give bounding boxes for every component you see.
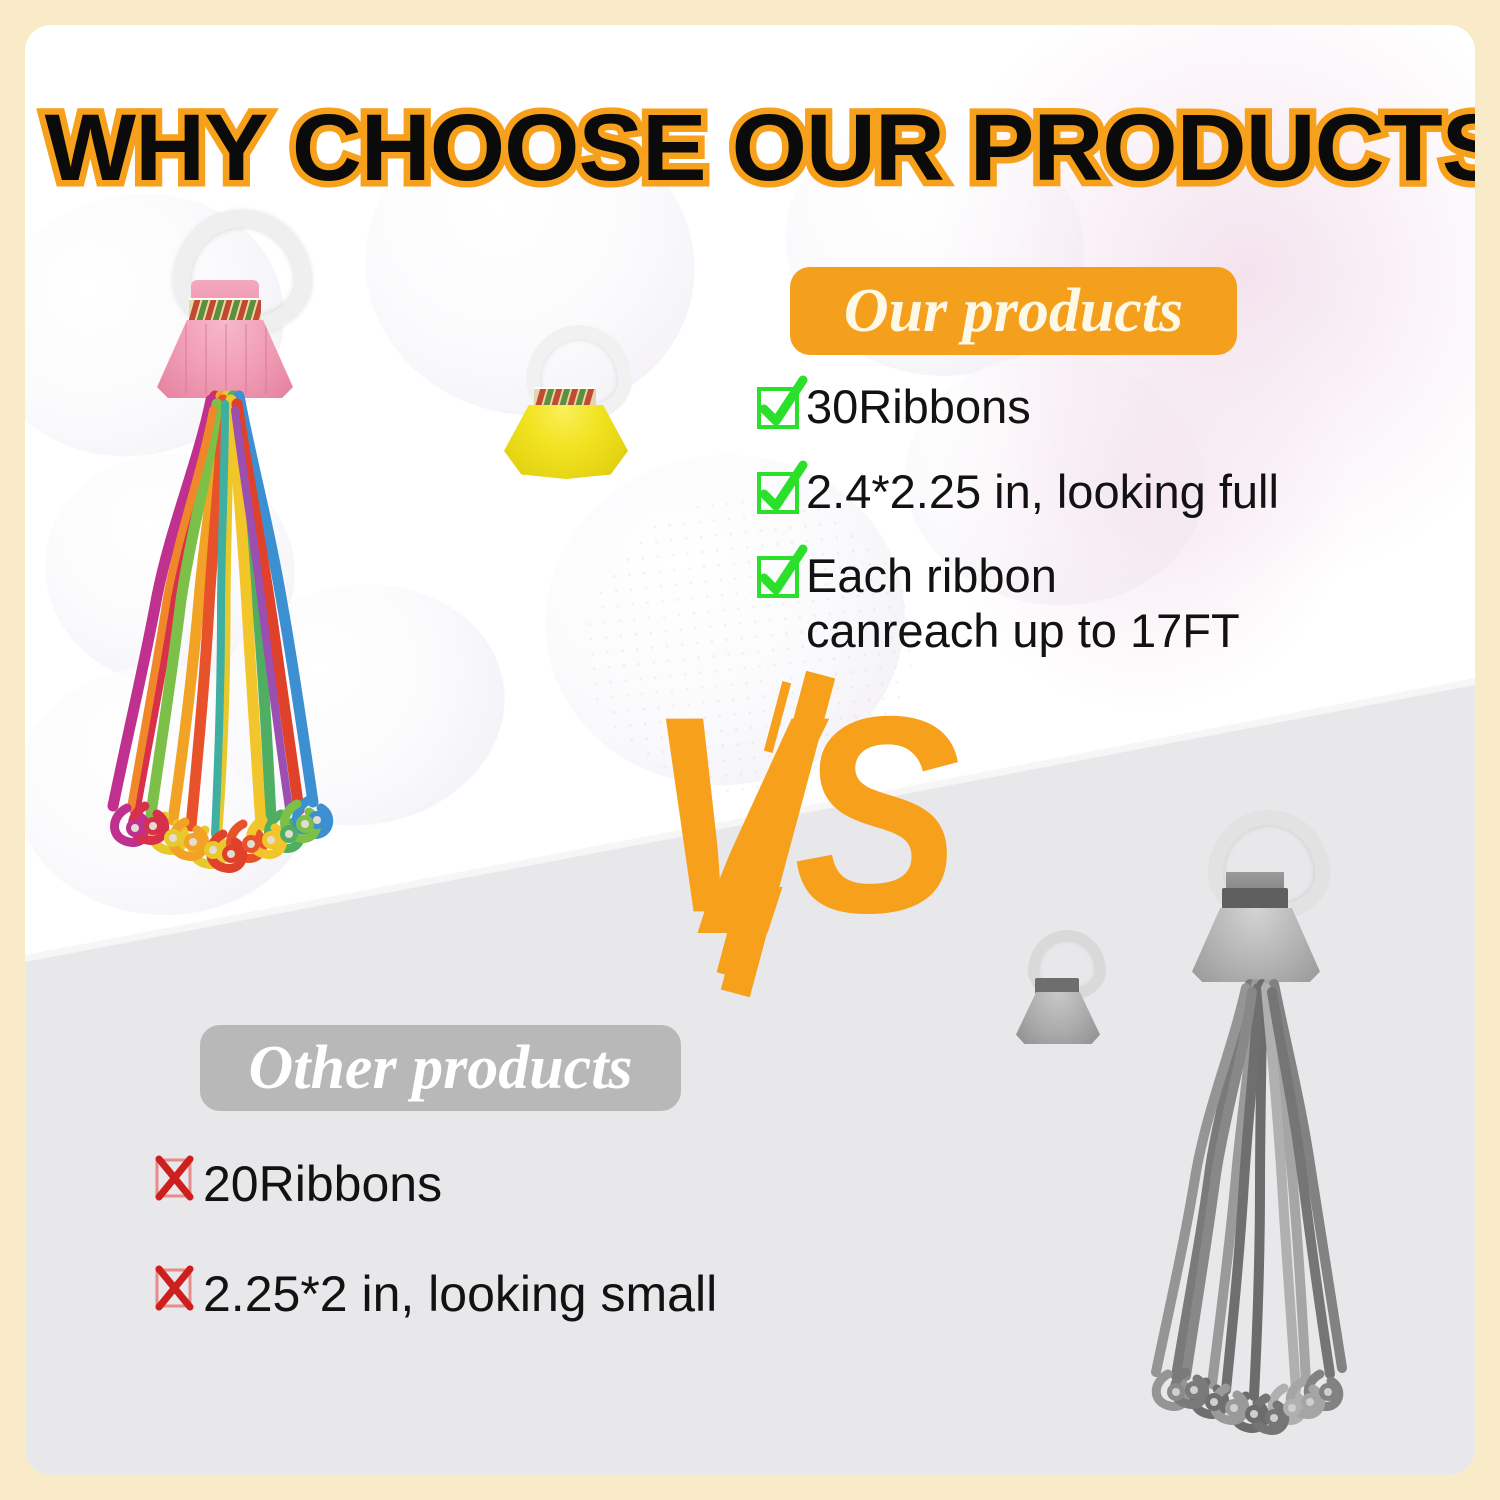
check-icon: [758, 555, 800, 597]
crepe-skirt: [1192, 908, 1320, 982]
competitor-tall-product-image: [1110, 810, 1410, 1430]
page-title: WHY CHOOSE OUR PRODUCTS: [25, 101, 1475, 196]
ribbon-cascade: [1110, 978, 1410, 1448]
crepe-skirt: [157, 320, 293, 398]
our-products-feature-list: 30Ribbons 2.4*2.25 in, looking full: [758, 380, 1378, 688]
crepe-skirt: [1016, 992, 1100, 1044]
other-products-badge: Other products: [200, 1025, 681, 1111]
main-product-image: [65, 210, 385, 890]
cross-icon: [155, 1161, 197, 1203]
list-item-label: 20Ribbons: [203, 1155, 442, 1213]
list-item: 2.25*2 in, looking small: [155, 1265, 915, 1323]
check-icon: [758, 386, 800, 428]
competitor-small-product-image: [1000, 930, 1120, 1055]
list-item-label: 2.4*2.25 in, looking full: [806, 465, 1279, 520]
cross-icon: [155, 1271, 197, 1313]
product-label-band: [1035, 978, 1079, 994]
crepe-skirt: [504, 405, 628, 479]
ribbon-cascade: [65, 390, 385, 890]
versus-badge: VS: [645, 687, 965, 987]
list-item-label: Each ribbon canreach up to 17FT: [806, 549, 1240, 658]
list-item: 2.4*2.25 in, looking full: [758, 465, 1378, 520]
check-icon: [758, 471, 800, 513]
product-label-band: [1222, 888, 1288, 910]
list-item: 30Ribbons: [758, 380, 1378, 435]
secondary-product-image: [490, 325, 650, 490]
poster-root: VS: [0, 0, 1500, 1500]
poster-panel: VS: [25, 25, 1475, 1475]
list-item-label: 2.25*2 in, looking small: [203, 1265, 717, 1323]
list-item: 20Ribbons: [155, 1155, 915, 1213]
list-item: Each ribbon canreach up to 17FT: [758, 549, 1378, 658]
other-products-feature-list: 20Ribbons 2.25*2 in, looking small: [155, 1155, 915, 1375]
list-item-label: 30Ribbons: [806, 380, 1031, 435]
our-products-badge: Our products: [790, 267, 1237, 355]
